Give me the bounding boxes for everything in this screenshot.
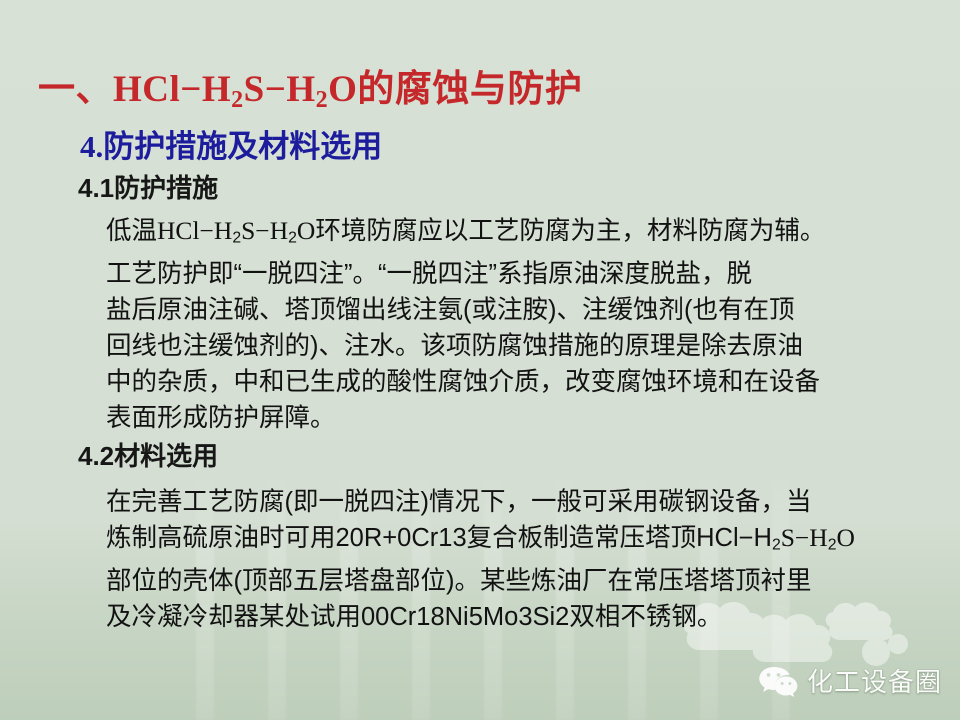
wechat-account-name: 化工设备圈 [807,662,942,699]
section-heading-4-2: 4.2材料选用 [78,436,218,473]
body-line: 盐后原油注碱、塔顶馏出线注氨(或注胺)、注缓蚀剂(也有在顶 [106,292,952,328]
title-subscript-1: 2 [231,87,244,113]
body-line: 炼制高硫原油时可用20R+0Cr13复合板制造常压塔顶HCl−H2S−H2O [106,520,952,563]
subscript: 2 [232,229,241,246]
title-prefix: 一、 [38,69,113,110]
body-line: 部位的壳体(顶部五层塔盘部位)。某些炼油厂在常压塔塔顶衬里 [106,563,952,599]
page-title: 一、HCl−H2S−H2O的腐蚀与防护 [38,58,582,114]
slide-content: 一、HCl−H2S−H2O的腐蚀与防护 4.防护措施及材料选用 4.1防护措施 … [0,0,960,720]
section-body-4-1: 低温HCl−H2S−H2O环境防腐应以工艺防腐为主，材料防腐为辅。 工艺防护即“… [106,213,952,436]
body-line: 在完善工艺防腐(即一脱四注)情况下，一般可采用碳钢设备，当 [106,484,952,520]
body-line: 中的杂质，中和已生成的酸性腐蚀介质，改变腐蚀环境和在设备 [106,364,952,400]
title-subscript-2: 2 [316,87,329,113]
section-heading-4-1: 4.1防护措施 [78,168,218,205]
subscript: 2 [772,536,781,553]
section-body-4-2: 在完善工艺防腐(即一脱四注)情况下，一般可采用碳钢设备，当 炼制高硫原油时可用2… [106,484,952,635]
subscript: 2 [288,229,297,246]
body-line: 及冷凝冷却器某处试用00Cr18Ni5Mo3Si2双相不锈钢。 [106,599,952,635]
subtitle-number: 4. [80,129,103,164]
title-formula-a: HCl−H [113,69,231,110]
body-line: 表面形成防护屏障。 [106,400,952,436]
title-formula-b: S−H [244,69,316,110]
body-line: 低温HCl−H2S−H2O环境防腐应以工艺防腐为主，材料防腐为辅。 [106,213,952,256]
wechat-icon [758,665,798,697]
wechat-watermark: 化工设备圈 [758,662,942,699]
section-subtitle: 4.防护措施及材料选用 [80,121,382,166]
body-line: 工艺防护即“一脱四注”。“一脱四注”系指原油深度脱盐，脱 [106,256,952,292]
presentation-slide: 一、HCl−H2S−H2O的腐蚀与防护 4.防护措施及材料选用 4.1防护措施 … [0,0,960,720]
subtitle-text: 防护措施及材料选用 [103,129,382,164]
title-formula-c: O的腐蚀与防护 [328,69,582,110]
body-line: 回线也注缓蚀剂的)、注水。该项防腐蚀措施的原理是除去原油 [106,328,952,364]
subscript: 2 [828,536,837,553]
